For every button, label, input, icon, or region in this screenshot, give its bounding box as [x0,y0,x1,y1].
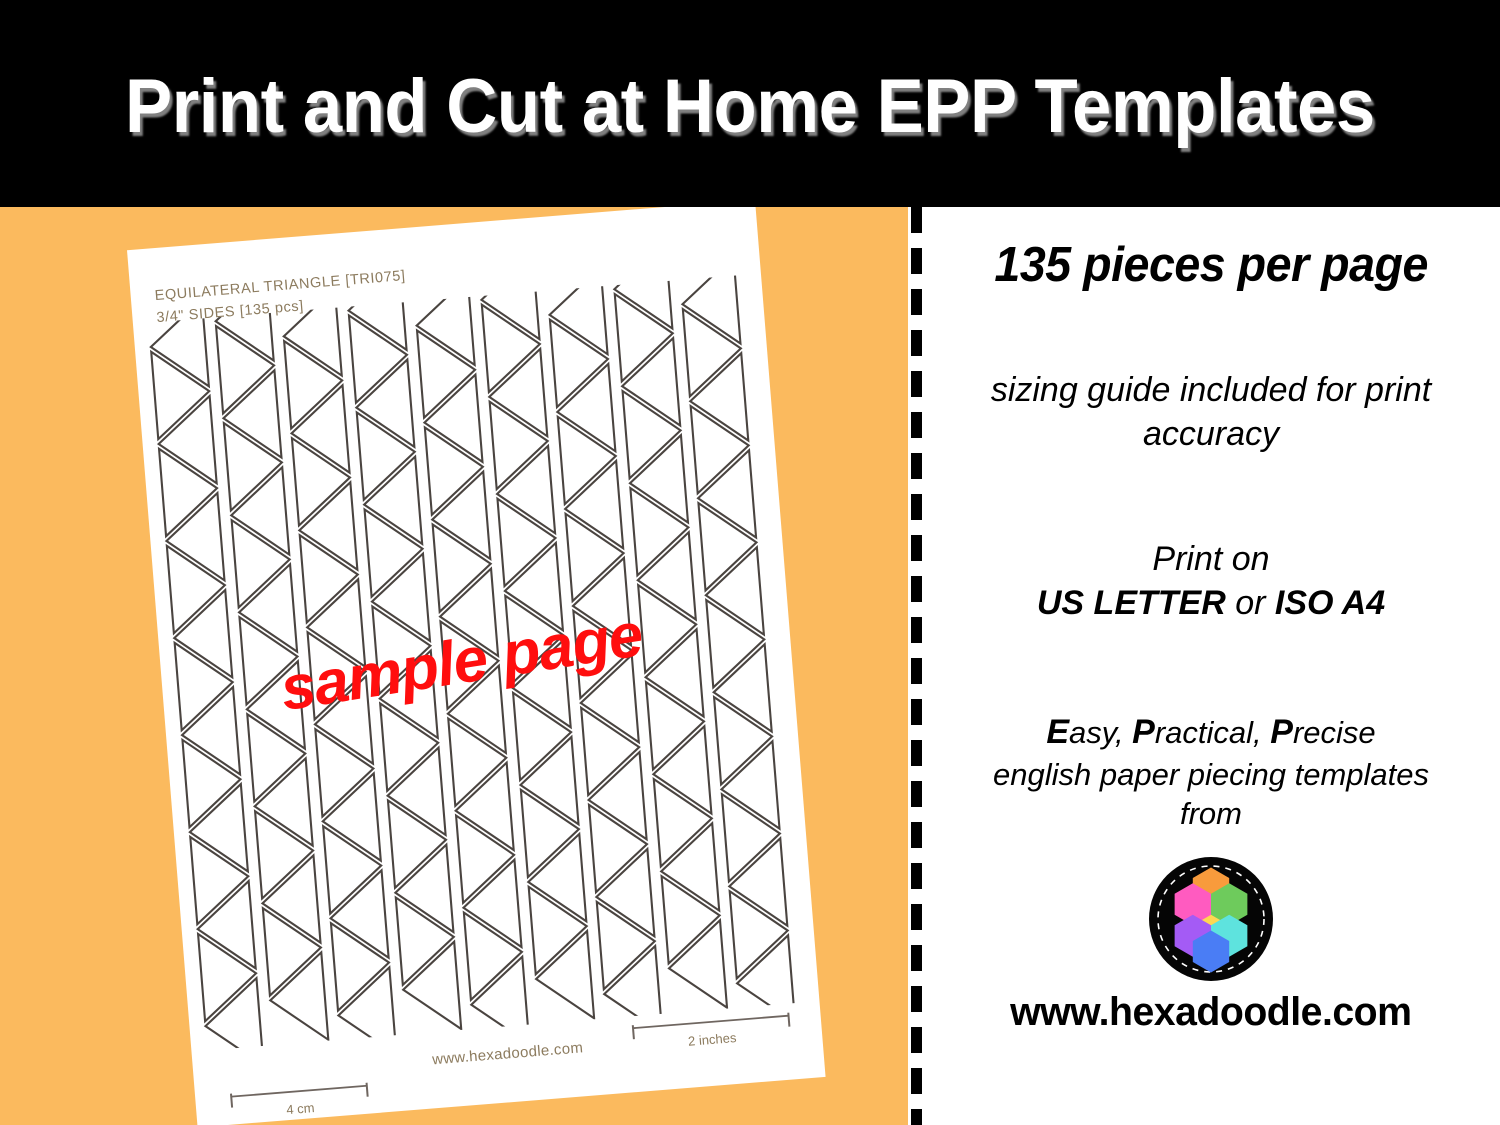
triangle-piece [702,547,764,639]
triangle-piece [267,952,329,1044]
triangle-piece [722,790,784,882]
triangle-piece [654,775,716,867]
hexadoodle-logo [1148,856,1274,982]
triangle-piece [151,347,213,439]
triangle-piece [589,800,651,892]
triangle-piece [456,811,518,903]
triangle-piece [490,397,552,489]
triangle-piece [353,360,415,452]
triangle-piece [284,337,346,429]
triangle-piece [687,353,749,445]
triangle-piece [623,387,685,479]
triangle-piece [296,482,358,574]
tagline-easy-cap: E [1046,713,1069,751]
triangle-piece [417,326,479,418]
poster-root: Print and Cut at Home EPP Templates EQUI… [0,0,1500,1125]
triangle-piece [167,542,229,634]
triangle-piece [179,687,241,779]
triangle-piece [388,796,450,888]
triangle-piece [497,494,559,586]
triangle-piece [581,703,643,795]
triangle-piece [646,678,708,770]
triangle-piece [683,305,745,397]
ruler-centimeters: 4 cm [229,1082,370,1109]
triangle-piece [546,275,608,359]
pieces-per-page-headline: 135 pieces per page [994,237,1427,293]
triangle-piece [159,444,221,536]
triangle-piece [429,472,491,564]
triangle-piece [650,726,712,818]
tagline-line-2: english paper piecing templates [993,757,1429,792]
triangle-piece [638,581,700,673]
paper-size-us-letter: US LETTER [1037,584,1226,622]
triangle-piece [626,435,688,527]
triangle-piece [361,457,423,549]
dashed-divider [911,207,922,1125]
triangle-piece [695,450,757,542]
sample-page-sheet: EQUILATERAL TRIANGLE [TRI075]3/4" SIDES … [127,207,826,1125]
triangle-piece [190,833,252,925]
print-on-label: Print on [1152,540,1269,578]
triangle-piece [448,714,510,806]
triangle-piece [425,423,487,515]
triangle-piece [400,942,462,1034]
triangle-piece [615,290,677,382]
triangle-piece [175,639,237,731]
triangle-piece [679,275,741,348]
tagline-practical-rest: ractical, [1155,715,1270,750]
triangle-piece [182,736,244,828]
sizing-guide-text: sizing guide included for print accuracy [946,369,1476,456]
triangle-piece [300,531,362,623]
triangle-piece [718,741,780,833]
triangle-piece [642,629,704,721]
triangle-piece [554,364,616,456]
triangle-piece [529,882,591,974]
tagline-easy-rest: asy, [1069,715,1132,750]
triangle-piece [585,752,647,844]
triangle-piece [714,693,776,785]
triangle-piece [163,493,225,585]
template-label-line1: EQUILATERAL TRIANGLE [TRI075] [154,268,406,304]
tagline-text: Easy, Practical, Precise english paper p… [946,711,1476,834]
triangle-piece [691,402,753,494]
triangle-piece [513,688,575,780]
triangle-piece [662,872,724,964]
triangle-piece [706,596,768,688]
triangle-piece [533,931,595,1023]
triangle-piece [396,893,458,985]
triangle-piece [558,412,620,504]
triangle-piece [380,699,442,791]
triangle-piece [517,737,579,829]
triangle-piece [236,564,298,656]
print-on-text: Print on US LETTER or ISO A4 [946,538,1476,625]
triangle-piece [726,838,788,930]
tagline-line-3: from [1180,796,1242,831]
triangle-piece [155,396,217,488]
triangle-piece [413,278,475,370]
hexagon-flower-logo-icon [1148,856,1274,982]
triangle-piece [315,725,377,817]
triangle-piece [194,881,256,973]
triangle-piece [228,467,290,559]
triangle-piece [331,919,393,1011]
triangle-piece [525,834,587,926]
header-banner: Print and Cut at Home EPP Templates [0,0,1500,207]
triangle-piece [171,590,233,682]
triangle-piece [319,773,381,865]
website-url: www.hexadoodle.com [1010,990,1411,1035]
sizing-line-2: accuracy [1143,415,1279,453]
triangle-piece [593,849,655,941]
triangle-piece [251,758,313,850]
page-title: Print and Cut at Home EPP Templates [125,63,1375,150]
triangle-piece [460,860,522,952]
triangle-piece [392,845,454,937]
triangle-piece [186,784,248,876]
tagline-practical-cap: P [1132,713,1155,751]
triangle-piece [452,763,514,855]
paper-size-iso-a4: ISO A4 [1275,584,1385,622]
triangle-piece [597,898,659,990]
triangle-piece [323,822,385,914]
triangle-piece [464,908,526,1000]
triangle-piece [292,434,354,526]
right-info-panel: 135 pieces per page sizing guide include… [922,207,1500,1125]
triangle-piece [365,505,427,597]
paper-size-conjunction: or [1226,584,1275,622]
left-preview-panel: EQUILATERAL TRIANGLE [TRI075]3/4" SIDES … [0,207,908,1125]
triangle-piece [494,446,556,538]
triangle-piece [521,785,583,877]
tagline-precise-rest: recise [1293,715,1376,750]
triangle-piece [349,311,411,403]
triangle-piece [421,375,483,467]
triangle-piece [216,322,278,414]
triangle-piece [224,419,286,511]
triangle-piece [486,349,548,441]
triangle-piece [634,532,696,624]
triangle-piece [247,710,309,802]
triangle-piece [198,930,260,1022]
triangle-piece [666,920,728,1012]
triangle-piece [611,275,673,333]
triangle-piece [550,315,612,407]
triangle-piece [433,520,495,612]
triangle-piece [255,807,317,899]
triangle-piece [357,408,419,500]
triangle-piece [566,509,628,601]
triangle-piece [259,855,321,947]
tagline-precise-cap: P [1270,713,1293,751]
sizing-line-1: sizing guide included for print [991,371,1431,409]
triangle-piece [710,644,772,736]
triangle-piece [630,484,692,576]
triangle-piece [562,461,624,553]
triangle-piece [220,370,282,462]
triangle-piece [619,338,681,430]
triangle-piece [327,870,389,962]
triangle-piece [288,385,350,477]
triangle-piece [263,904,325,996]
triangle-piece [482,300,544,392]
triangle-piece [698,499,760,591]
triangle-piece [384,748,446,840]
triangle-piece [232,516,294,608]
ruler-inches: 2 inches [631,1012,792,1041]
triangle-piece [658,823,720,915]
triangle-piece [730,887,792,979]
